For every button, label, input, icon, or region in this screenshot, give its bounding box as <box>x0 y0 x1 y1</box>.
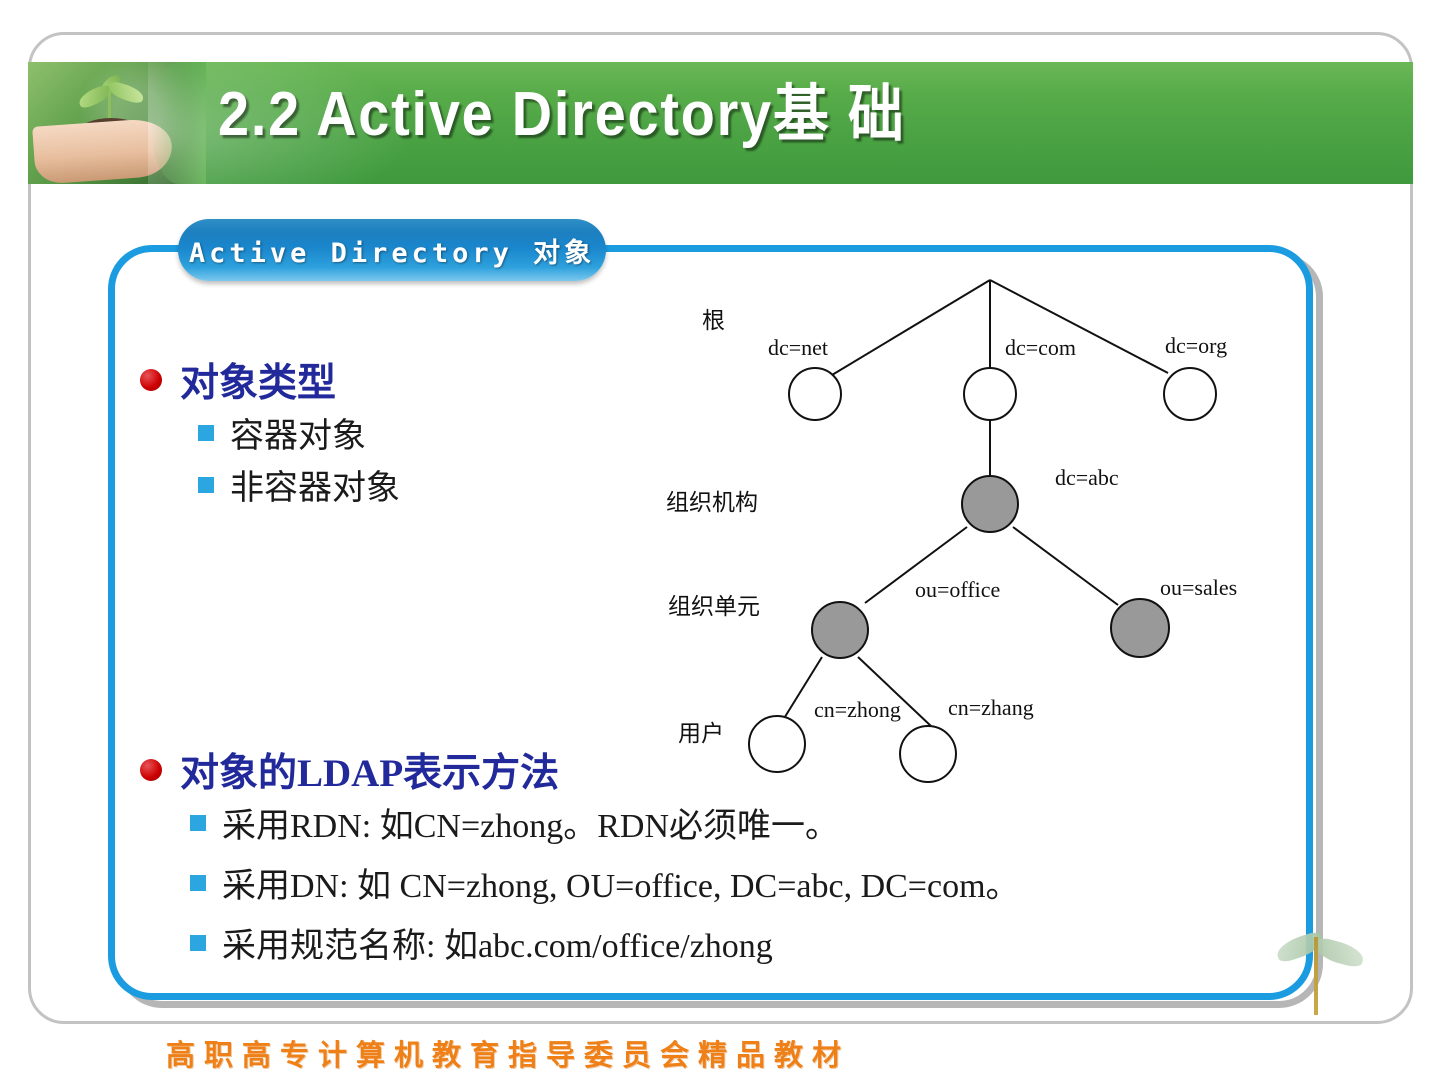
square-bullet-icon <box>190 815 206 831</box>
node-label-cn-zhang: cn=zhang <box>948 695 1034 721</box>
list-item-label: 采用DN: 如 CN=zhong, OU=office, DC=abc, DC=… <box>222 858 1020 907</box>
heading-object-types: 对象类型 <box>180 352 336 408</box>
list-item-canonical-name: 采用规范名称: 如abc.com/office/zhong <box>190 918 773 967</box>
footer: 高职高专计算机教育指导委员会精品教材 <box>0 1032 1440 1074</box>
list-item-container-object: 容器对象 <box>198 408 366 457</box>
node-label-ou-sales: ou=sales <box>1160 575 1237 601</box>
list-item-label: 容器对象 <box>230 408 366 457</box>
level-label-root: 根 <box>702 301 725 335</box>
red-dot-bullet-icon <box>140 369 162 391</box>
node-label-ou-office: ou=office <box>915 577 1000 603</box>
node-label-dc-abc: dc=abc <box>1055 465 1119 491</box>
list-item-rdn: 采用RDN: 如CN=zhong。RDN必须唯一。 <box>190 798 839 847</box>
node-label-dc-com: dc=com <box>1005 335 1076 361</box>
footer-label: 高职高专计算机教育指导委员会精品教材 <box>166 1032 850 1074</box>
photo-fade <box>150 62 206 184</box>
list-item-noncontainer-object: 非容器对象 <box>198 460 400 509</box>
bullet-ldap-representation: 对象的LDAP表示方法 <box>140 742 559 798</box>
list-item-dn: 采用DN: 如 CN=zhong, OU=office, DC=abc, DC=… <box>190 858 1020 907</box>
node-label-dc-net: dc=net <box>768 335 828 361</box>
square-bullet-icon <box>198 425 214 441</box>
section-badge-label: Active Directory 对象 <box>189 231 595 270</box>
level-label-user: 用户 <box>678 714 724 748</box>
list-item-label: 采用RDN: 如CN=zhong。RDN必须唯一。 <box>222 798 839 847</box>
leaf-right-icon <box>107 80 146 104</box>
section-badge: Active Directory 对象 <box>178 219 606 281</box>
level-label-ou: 组织单元 <box>668 587 760 621</box>
list-item-label: 非容器对象 <box>230 460 400 509</box>
square-bullet-icon <box>198 477 214 493</box>
ad-object-tree-diagram: 根 组织机构 组织单元 用户 dc=net dc=com dc=org dc=a… <box>650 265 1270 795</box>
red-dot-bullet-icon <box>140 759 162 781</box>
seedling-photo <box>28 62 206 184</box>
heading-ldap-representation: 对象的LDAP表示方法 <box>180 742 559 798</box>
page-title: 2.2 Active Directory基 础 <box>218 84 905 146</box>
node-label-dc-org: dc=org <box>1165 333 1227 359</box>
level-label-org: 组织机构 <box>666 483 758 517</box>
square-bullet-icon <box>190 875 206 891</box>
list-item-label: 采用规范名称: 如abc.com/office/zhong <box>222 918 773 967</box>
bullet-object-types: 对象类型 <box>140 352 336 408</box>
square-bullet-icon <box>190 935 206 951</box>
node-label-cn-zhong: cn=zhong <box>814 697 901 723</box>
